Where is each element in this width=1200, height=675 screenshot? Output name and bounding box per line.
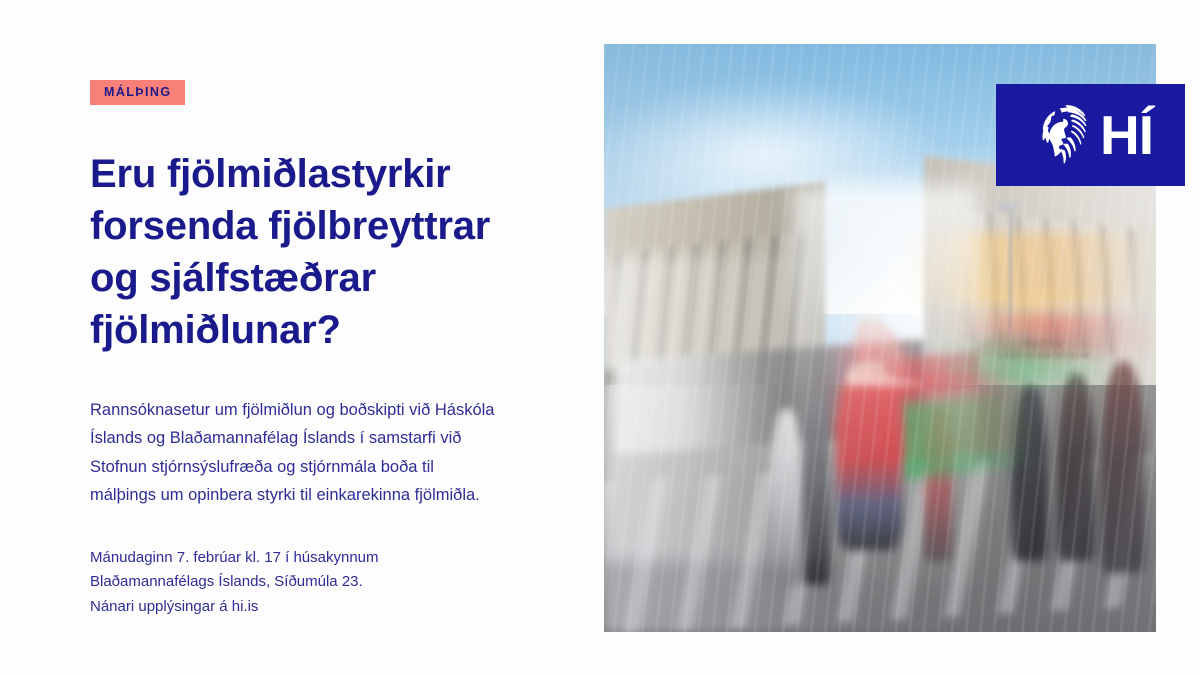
body-line-1: Rannsóknasetur um fjölmiðlun og boðskipt… bbox=[90, 396, 560, 424]
body-line-3: Stofnun stjórnsýslufræða og stjórnmála b… bbox=[90, 453, 560, 481]
event-datetime: Mánudaginn 7. febrúar kl. 17 í húsakynnu… bbox=[90, 546, 520, 570]
headline-line-4: fjölmiðlunar? bbox=[90, 304, 570, 356]
event-details: Mánudaginn 7. febrúar kl. 17 í húsakynnu… bbox=[90, 546, 520, 619]
event-venue: Blaðamannafélags Íslands, Síðumúla 23. bbox=[90, 570, 520, 594]
body-line-2: Íslands og Blaðamannafélag Íslands í sam… bbox=[90, 424, 560, 452]
content-column: MÁLÞING Eru fjölmiðlastyrkir forsenda fj… bbox=[90, 0, 570, 675]
logo-text: HÍ bbox=[1100, 108, 1153, 163]
headline-line-1: Eru fjölmiðlastyrkir bbox=[90, 148, 570, 200]
headline-line-3: og sjálfstæðrar bbox=[90, 252, 570, 304]
body-line-4: málþings um opinbera styrki til einkarek… bbox=[90, 481, 560, 509]
description-paragraph: Rannsóknasetur um fjölmiðlun og boðskipt… bbox=[90, 396, 560, 510]
headline-line-2: forsenda fjölbreyttrar bbox=[90, 200, 570, 252]
event-more-info: Nánari upplýsingar á hi.is bbox=[90, 595, 520, 619]
category-badge: MÁLÞING bbox=[90, 80, 185, 105]
page-title: Eru fjölmiðlastyrkir forsenda fjölbreytt… bbox=[90, 148, 570, 356]
university-of-iceland-head-icon bbox=[1032, 103, 1090, 167]
poster-canvas: MÁLÞING Eru fjölmiðlastyrkir forsenda fj… bbox=[0, 0, 1200, 675]
university-of-iceland-logo: HÍ bbox=[996, 84, 1185, 186]
